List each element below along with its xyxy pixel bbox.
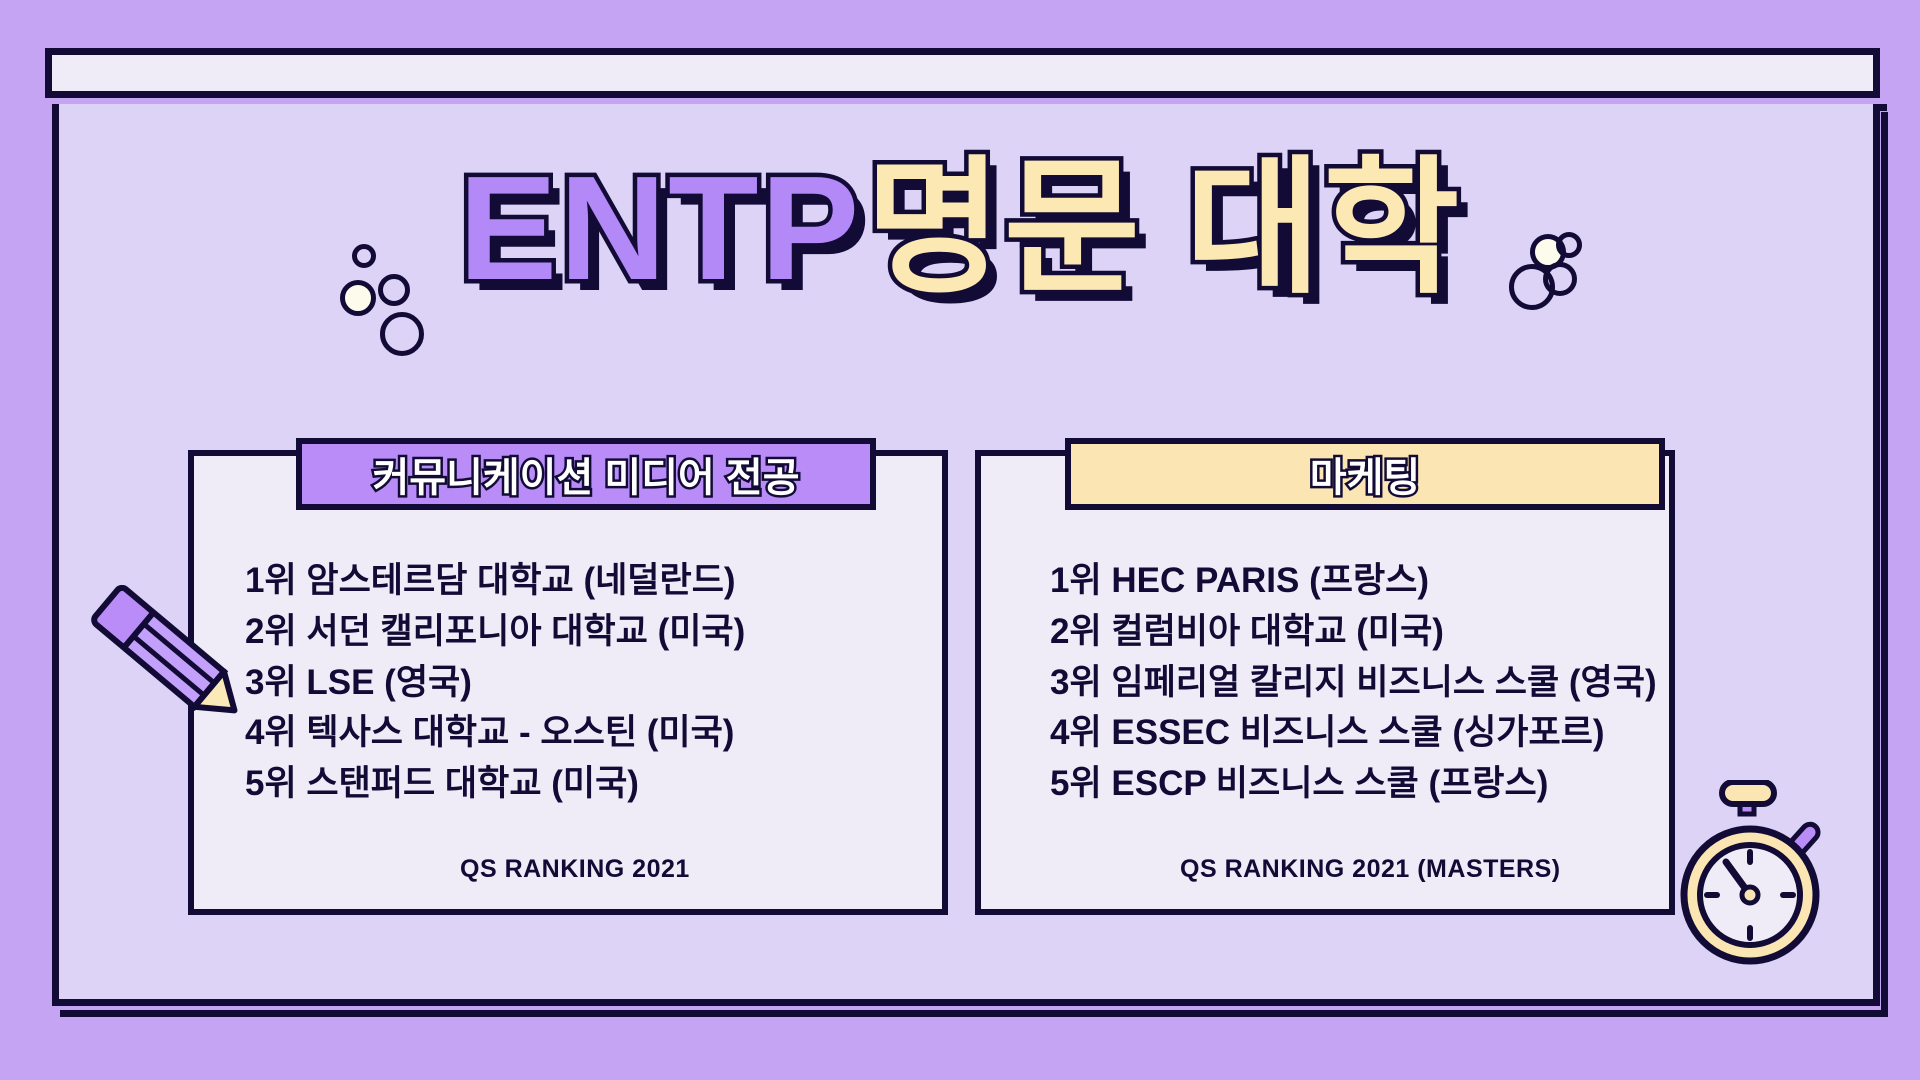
card-header-communication-media: 커뮤니케이션 미디어 전공 [296, 438, 876, 510]
bubble-icon [378, 274, 410, 306]
pencil-icon [80, 585, 260, 725]
bubble-icon [340, 280, 376, 316]
source-caption-left: QS RANKING 2021 [460, 855, 690, 884]
list-item: 1위 암스테르담 대학교 (네덜란드) [245, 556, 745, 607]
bubble-icon [380, 312, 424, 356]
list-item: 4위 텍사스 대학교 - 오스틴 (미국) [245, 708, 745, 759]
list-item: 3위 임페리얼 칼리지 비즈니스 스쿨 (영국) [1050, 658, 1657, 709]
list-item: 5위 스탠퍼드 대학교 (미국) [245, 759, 745, 810]
card-header-label: 마케팅 [1310, 445, 1420, 503]
list-item: 4위 ESSEC 비즈니스 스쿨 (싱가포르) [1050, 708, 1657, 759]
poster-canvas: ENTP 명문 대학 커뮤니케이션 미디어 전공 마케팅 1위 암스테르담 대학… [0, 0, 1920, 1080]
list-item: 3위 LSE (영국) [245, 658, 745, 709]
bubble-icon [352, 244, 376, 268]
bubble-icon [1556, 232, 1582, 258]
list-item: 5위 ESCP 비즈니스 스쿨 (프랑스) [1050, 759, 1657, 810]
title-entp: ENTP [459, 155, 862, 303]
list-item: 1위 HEC PARIS (프랑스) [1050, 556, 1657, 607]
top-strip [45, 48, 1880, 98]
source-caption-right: QS RANKING 2021 (MASTERS) [1180, 855, 1561, 884]
card-header-label: 커뮤니케이션 미디어 전공 [372, 445, 799, 503]
ranking-list-communication-media: 1위 암스테르담 대학교 (네덜란드) 2위 서던 캘리포니아 대학교 (미국)… [245, 556, 745, 810]
stopwatch-icon [1660, 780, 1850, 970]
page-title: ENTP 명문 대학 [0, 155, 1920, 303]
title-korean: 명문 대학 [866, 155, 1462, 303]
bubble-icon [1509, 264, 1555, 310]
panel-bottom-shadow [60, 1010, 1888, 1017]
card-header-marketing: 마케팅 [1065, 438, 1665, 510]
ranking-list-marketing: 1위 HEC PARIS (프랑스) 2위 컬럼비아 대학교 (미국) 3위 임… [1050, 556, 1657, 810]
list-item: 2위 서던 캘리포니아 대학교 (미국) [245, 607, 745, 658]
list-item: 2위 컬럼비아 대학교 (미국) [1050, 607, 1657, 658]
